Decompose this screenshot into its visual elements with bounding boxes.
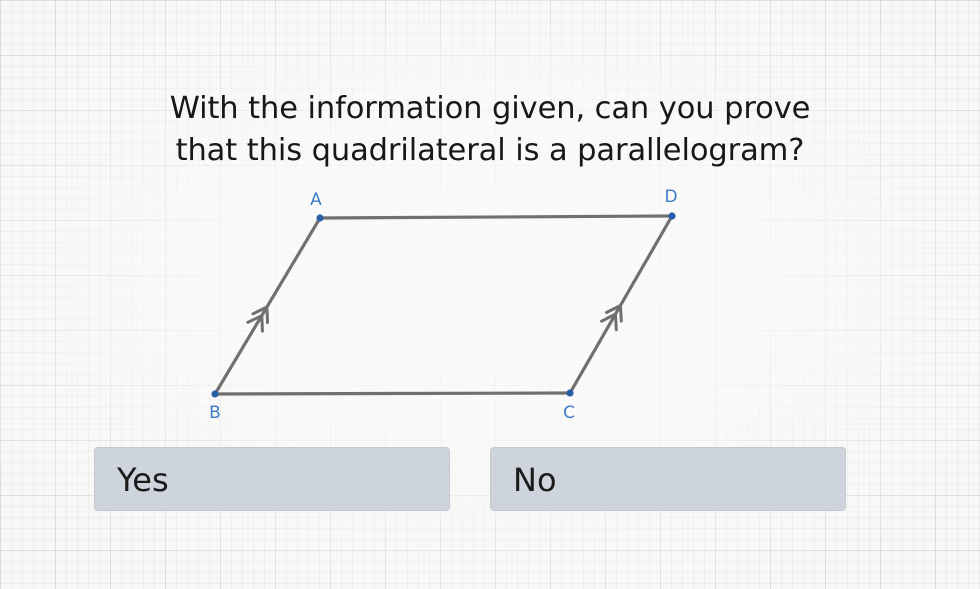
figure-edge-bc (215, 393, 570, 394)
figure-edges (215, 216, 672, 394)
vertex-dot-b (211, 390, 218, 397)
figure-vertex-labels: ABCD (209, 187, 677, 423)
vertex-label-a: A (310, 190, 322, 210)
vertex-dot-c (566, 389, 573, 396)
vertex-dot-a (316, 214, 323, 221)
vertex-label-d: D (664, 187, 677, 207)
answer-options: Yes No (94, 447, 846, 511)
answer-no-button[interactable]: No (490, 447, 846, 511)
vertex-dot-d (668, 212, 675, 219)
page-background: With the information given, can you prov… (0, 0, 980, 589)
vertex-label-b: B (209, 403, 221, 423)
vertex-label-c: C (563, 403, 575, 423)
parallel-marks (248, 305, 621, 331)
figure-vertex-dots (211, 212, 675, 397)
answer-yes-button[interactable]: Yes (94, 447, 450, 511)
figure-edge-ad (320, 216, 672, 218)
page-content: With the information given, can you prov… (0, 0, 980, 589)
